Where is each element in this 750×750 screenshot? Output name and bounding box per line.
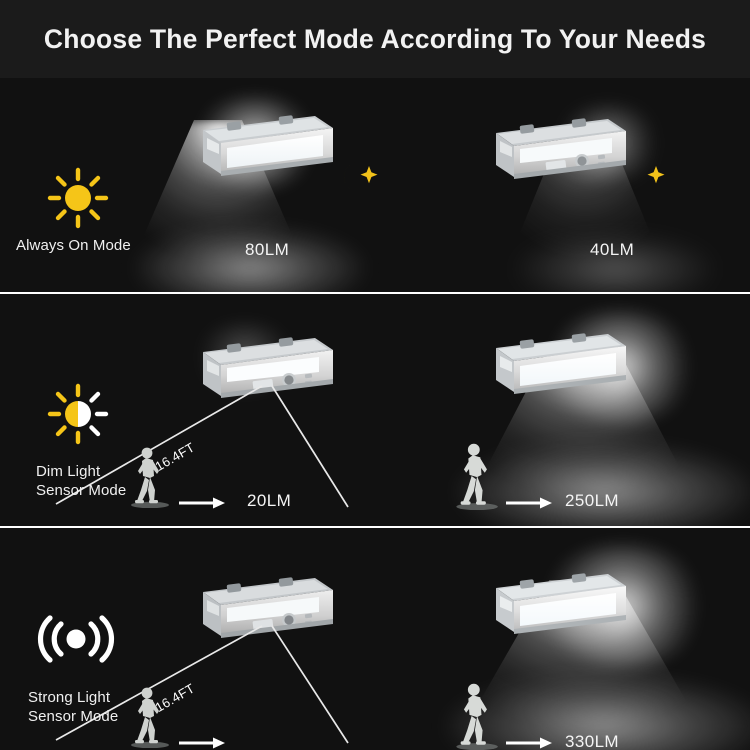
mode-row-strong-light-sensor: 16.4FT bbox=[0, 528, 750, 750]
panel-strong-right: 330LM bbox=[375, 528, 750, 750]
solar-wall-light bbox=[197, 108, 337, 180]
page-title: Choose The Perfect Mode According To You… bbox=[44, 24, 706, 55]
panel-always-on-right: 40LM bbox=[375, 78, 750, 292]
lumen-label: 80LM bbox=[245, 240, 289, 260]
mode-row-always-on: 80LM bbox=[0, 78, 750, 292]
walking-person-silhouette bbox=[128, 446, 170, 513]
motion-direction-arrow bbox=[178, 736, 226, 750]
solar-wall-light bbox=[490, 111, 630, 183]
sun-full-icon bbox=[46, 166, 110, 235]
page-header: Choose The Perfect Mode According To You… bbox=[0, 0, 750, 78]
solar-wall-light bbox=[197, 330, 337, 402]
solar-wall-light bbox=[197, 570, 337, 642]
moon-star-icon bbox=[333, 156, 379, 203]
mode-label: Always On Mode bbox=[16, 236, 131, 255]
lumen-label: 250LM bbox=[565, 491, 619, 511]
lumen-label: 20LM bbox=[247, 491, 291, 511]
walking-person-silhouette bbox=[128, 686, 170, 750]
walking-person-silhouette bbox=[453, 682, 499, 750]
motion-direction-arrow bbox=[178, 496, 226, 515]
motion-direction-arrow bbox=[505, 496, 553, 515]
solar-wall-light bbox=[490, 326, 630, 398]
sun-half-icon bbox=[46, 382, 110, 451]
lumen-label: 330LM bbox=[565, 732, 619, 750]
solar-wall-light bbox=[490, 566, 630, 638]
walking-person-silhouette bbox=[453, 442, 499, 515]
motion-direction-arrow bbox=[505, 736, 553, 750]
panel-dim-right: 250LM bbox=[375, 294, 750, 526]
mode-label: Strong Light Sensor Mode bbox=[28, 688, 118, 726]
infographic-page: Choose The Perfect Mode According To You… bbox=[0, 0, 750, 750]
lumen-label: 40LM bbox=[590, 240, 634, 260]
mode-label: Dim Light Sensor Mode bbox=[36, 462, 126, 500]
mode-row-dim-light-sensor: 16.4FT bbox=[0, 294, 750, 526]
moon-star-icon bbox=[620, 156, 666, 203]
motion-sensor-icon bbox=[36, 610, 116, 673]
